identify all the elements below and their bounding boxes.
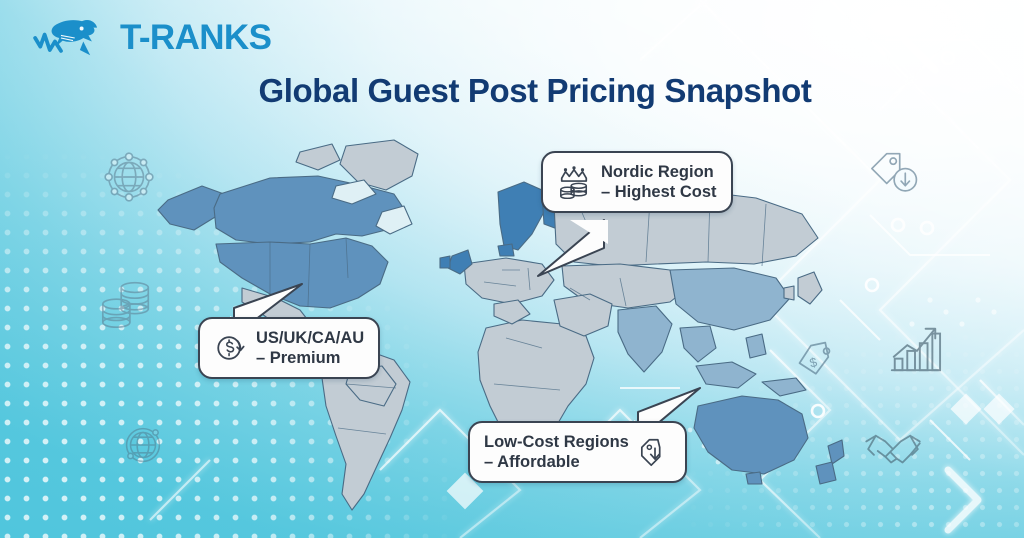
map-region-southeast-asia [680, 326, 716, 362]
map-region-india [618, 306, 672, 372]
callout-nordic-line1: Nordic Region [601, 162, 717, 182]
crown-coins-icon [557, 165, 591, 199]
map-region-japan [798, 272, 822, 304]
map-region-papua-new-guinea [762, 378, 806, 396]
callout-premium-line1: US/UK/CA/AU [256, 328, 364, 348]
map-region-korea [784, 286, 794, 300]
map-region-australia [694, 396, 808, 474]
shark-trend-logo-icon [30, 12, 116, 64]
map-region-china [670, 268, 790, 330]
dollar-refresh-icon [214, 332, 246, 364]
infographic-canvas: $ T-RANKS Global Guest Post Pricing Snap… [0, 0, 1024, 538]
callout-premium-markets[interactable]: US/UK/CA/AU – Premium [198, 317, 380, 379]
map-region-denmark [498, 244, 514, 256]
price-tag-down-icon [639, 436, 671, 468]
callout-lowcost-line2: – Affordable [484, 452, 629, 472]
callout-tail-nordic [534, 218, 614, 280]
map-region-philippines [746, 334, 766, 358]
callout-nordic-region[interactable]: Nordic Region – Highest Cost [541, 151, 733, 213]
map-region-indonesia [696, 362, 756, 388]
page-title: Global Guest Post Pricing Snapshot [0, 72, 1024, 110]
map-region-new-zealand-south [816, 462, 836, 484]
map-region-arctic-islands [296, 144, 340, 170]
bar-chart-growth-icon [886, 322, 944, 376]
coin-stack-icon [96, 274, 158, 334]
map-region-new-zealand-north [828, 440, 844, 464]
callout-nordic-line2: – Highest Cost [601, 182, 717, 202]
callout-low-cost-regions[interactable]: Low-Cost Regions – Affordable [468, 421, 687, 483]
map-region-ireland [440, 256, 450, 268]
brand-logo[interactable]: T-RANKS [30, 12, 271, 64]
callout-premium-line2: – Premium [256, 348, 364, 368]
brand-logo-text: T-RANKS [120, 18, 271, 58]
map-region-tasmania [746, 472, 762, 484]
callout-lowcost-line1: Low-Cost Regions [484, 432, 629, 452]
